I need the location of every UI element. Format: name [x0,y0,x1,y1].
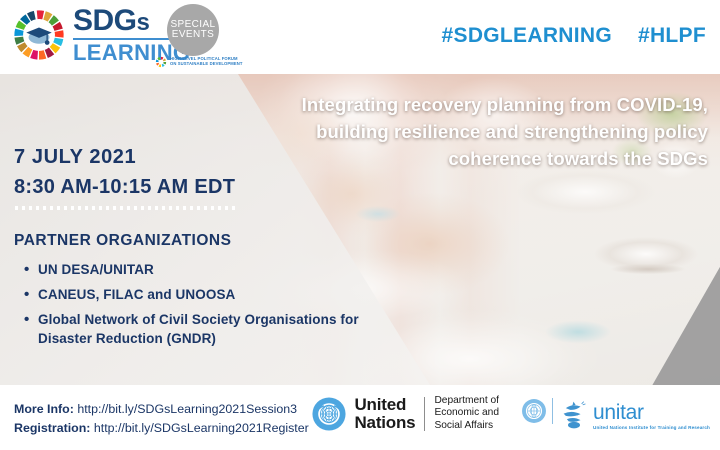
logo-divider [424,397,425,431]
unitar-wordmark: unitar United Nations Institute for Trai… [593,402,710,430]
sdg-color-wheel-icon [10,6,68,64]
special-events-line2: EVENTS [172,30,214,41]
partners-list: UN DESA/UNITAR CANEUS, FILAC and UNOOSA … [22,260,400,355]
desa-wordmark: Department of Economic and Social Affair… [434,395,499,432]
logo-divider [552,398,553,424]
un-line2: Nations [354,414,415,431]
graduation-cap-icon [26,27,52,44]
list-item: Global Network of Civil Society Organisa… [38,310,400,348]
special-events-circle: SPECIAL EVENTS [167,4,219,56]
registration-url[interactable]: http://bit.ly/SDGsLearning2021Register [94,421,309,435]
registration-row: Registration: http://bit.ly/SDGsLearning… [14,419,309,438]
desa-line2: Economic and [434,407,499,419]
hashtag-sdglearning[interactable]: #SDGLEARNING [442,24,612,48]
hashtag-hlpf[interactable]: #HLPF [638,24,706,48]
special-events-badge: SPECIAL EVENTS [155,2,245,72]
unitar-logo: unitar United Nations Institute for Trai… [521,398,710,430]
more-info-row: More Info: http://bit.ly/SDGsLearning202… [14,400,309,419]
registration-label: Registration: [14,421,90,435]
event-title: Integrating recovery planning from COVID… [290,91,708,173]
header-band: SDGs LEARNING SPECIAL EVENTS [0,0,720,74]
event-time: 8:30 AM-10:15 AM EDT [14,176,235,199]
united-nations-wordmark: United Nations [354,396,415,431]
un-desa-logo: United Nations Department of Economic an… [311,395,499,432]
footer-links: More Info: http://bit.ly/SDGsLearning202… [14,400,309,438]
hlpf-line2: ON SUSTAINABLE DEVELOPMENT [170,62,243,67]
unitar-subtitle: United Nations Institute for Training an… [593,425,710,430]
hero-photo-area: 7 JULY 2021 8:30 AM-10:15 AM EDT PARTNER… [0,74,720,385]
unitar-bird-icon [560,400,588,430]
dotted-divider [15,206,237,210]
footer-logos: United Nations Department of Economic an… [311,395,710,432]
list-item: CANEUS, FILAC and UNOOSA [38,285,400,304]
list-item: UN DESA/UNITAR [38,260,400,279]
footer-band: More Info: http://bit.ly/SDGsLearning202… [0,385,720,450]
hlpf-logo: HIGH-LEVEL POLITICAL FORUM ON SUSTAINABL… [155,56,243,68]
more-info-label: More Info: [14,402,74,416]
desa-line1: Department of [434,395,499,407]
un-emblem-icon [311,396,347,432]
partners-heading: PARTNER ORGANIZATIONS [14,232,231,250]
desa-line3: Social Affairs [434,420,499,432]
hlpf-wheel-icon [155,56,167,68]
hashtags: #SDGLEARNING #HLPF [442,24,706,48]
event-date: 7 JULY 2021 [14,146,136,169]
unitar-word: unitar [593,402,710,423]
un-line1: United [354,396,415,413]
more-info-url[interactable]: http://bit.ly/SDGsLearning2021Session3 [77,402,297,416]
event-poster: 7 JULY 2021 8:30 AM-10:15 AM EDT PARTNER… [0,0,720,450]
hlpf-wordmark: HIGH-LEVEL POLITICAL FORUM ON SUSTAINABL… [170,57,243,67]
un-emblem-icon [521,398,547,424]
